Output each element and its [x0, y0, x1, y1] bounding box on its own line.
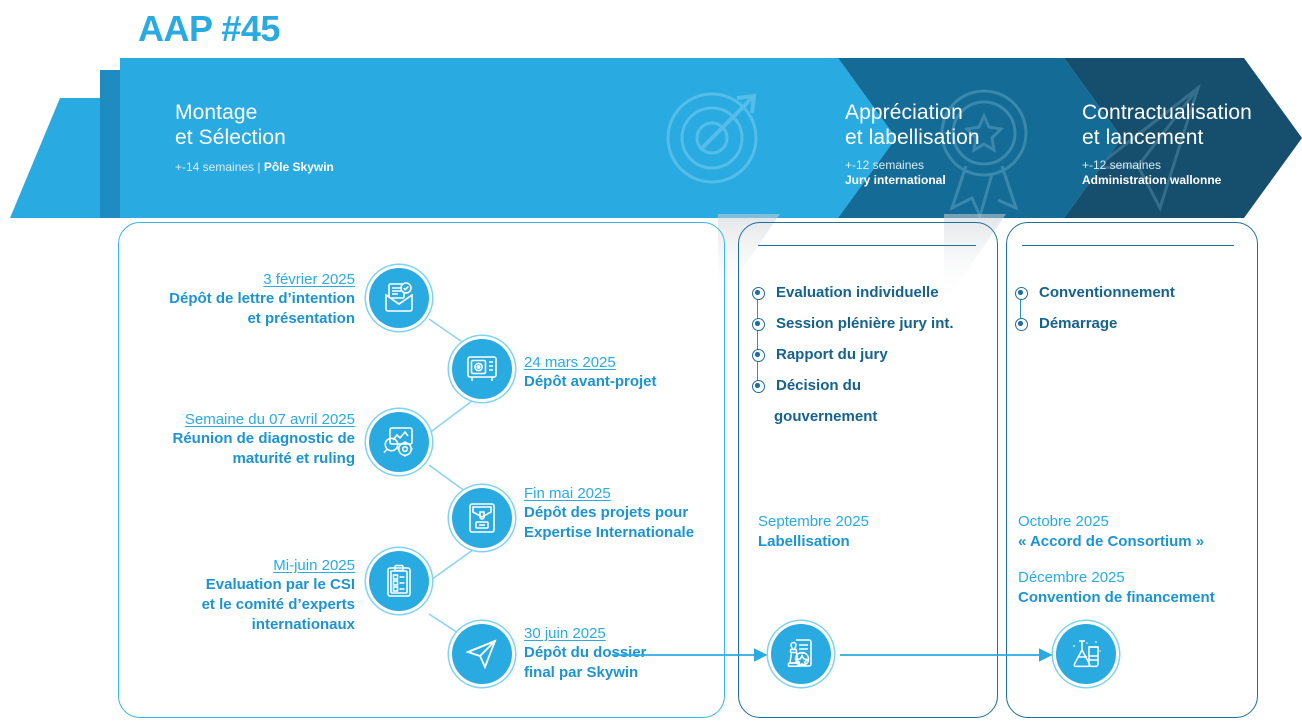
right-milestone-1: Octobre 2025 « Accord de Consortium » [1018, 512, 1204, 552]
segment-3-owner: Administration wallonne [1082, 173, 1221, 187]
step-6-date: 30 juin 2025 [524, 624, 794, 643]
step-1-desc-line2: et présentation [100, 309, 355, 329]
paper-plane-icon [452, 624, 512, 684]
step-4-date: Fin mai 2025 [524, 484, 794, 503]
mid-bullet-spine [757, 291, 758, 385]
mid-bullet-3: Rapport du jury [752, 345, 954, 364]
step-5-date: Mi-juin 2025 [95, 556, 355, 575]
right-milestone-2: Décembre 2025 Convention de financement [1018, 568, 1215, 608]
step-6-desc-line2: final par Skywin [524, 663, 794, 683]
step-1-desc-line1: Dépôt de lettre d’intention [100, 289, 355, 309]
bullet-dot-icon [752, 318, 765, 331]
segment-1-meta: +-14 semaines | Pôle Skywin [175, 160, 334, 175]
right-bullet-2: Démarrage [1015, 314, 1175, 333]
segment-1-title-line1: Montage [175, 100, 334, 125]
mid-bullet-3-label: Rapport du jury [776, 345, 888, 364]
right-milestone-2-date: Décembre 2025 [1018, 568, 1215, 588]
bullet-dot-icon [752, 380, 765, 393]
segment-1-owner: Pôle Skywin [264, 160, 334, 174]
infographic-root: AAP #45 [0, 0, 1302, 726]
right-milestone-1-date: Octobre 2025 [1018, 512, 1204, 532]
segment-3-meta: +-12 semaines Administration wallonne [1082, 158, 1252, 188]
mid-bullet-2-label: Session plénière jury int. [776, 314, 954, 333]
mid-bullet-4-label: Décision du [776, 376, 861, 395]
step-2-desc-line1: Dépôt avant-projet [524, 372, 784, 392]
ribbon-fold [100, 70, 120, 218]
segment-2-title-line1: Appréciation [845, 100, 980, 125]
banner-segment-2-text: Appréciation et labellisation +-12 semai… [845, 100, 980, 188]
step-3-date: Semaine du 07 avril 2025 [95, 410, 355, 429]
segment-2-title-line2: et labellisation [845, 125, 980, 150]
bullet-dot-icon [1015, 318, 1028, 331]
package-envelope-icon [452, 488, 512, 548]
right-bullet-1: Conventionnement [1015, 283, 1175, 302]
mid-column-bullets: Evaluation individuelle Session plénière… [752, 283, 954, 426]
right-milestone-2-label: Convention de financement [1018, 588, 1215, 608]
segment-1-separator: | [254, 160, 264, 174]
banner-segment-3-text: Contractualisation et lancement +-12 sem… [1082, 100, 1252, 188]
bullet-dot-icon [752, 349, 765, 362]
banner-segment-1-text: Montage et Sélection +-14 semaines | Pôl… [175, 100, 334, 175]
step-4-desc-line1: Dépôt des projets pour [524, 503, 794, 523]
mid-milestone-1: Septembre 2025 Labellisation [758, 512, 869, 552]
target-arrow-icon [668, 94, 756, 182]
phase-banner: Montage et Sélection +-14 semaines | Pôl… [0, 58, 1302, 218]
step-5-desc-line2: et le comité d’experts [95, 595, 355, 615]
lab-flasks-icon [1056, 624, 1116, 684]
mid-milestone-1-label: Labellisation [758, 532, 869, 552]
segment-1-title-line2: et Sélection [175, 125, 334, 150]
panel-mid-top-rule [758, 245, 976, 246]
panel-right-top-rule [1022, 245, 1234, 246]
mid-bullet-1: Evaluation individuelle [752, 283, 954, 302]
step-3-desc-line2: maturité et ruling [95, 449, 355, 469]
right-bullet-2-label: Démarrage [1039, 314, 1117, 333]
mid-milestone-1-date: Septembre 2025 [758, 512, 869, 532]
step-5-desc-line1: Evaluation par le CSI [95, 575, 355, 595]
right-column-bullets: Conventionnement Démarrage [1015, 283, 1175, 345]
step-1-date: 3 février 2025 [100, 270, 355, 289]
mid-bullet-1-label: Evaluation individuelle [776, 283, 939, 302]
segment-3-duration: +-12 semaines [1082, 158, 1252, 173]
step-4-desc-line2: Expertise Internationale [524, 523, 794, 543]
segment-2-owner: Jury international [845, 173, 946, 187]
bullet-dot-icon [752, 287, 765, 300]
step-2-date: 24 mars 2025 [524, 353, 784, 372]
segment-1-duration: +-14 semaines [175, 160, 254, 174]
segment-3-title-line2: et lancement [1082, 125, 1252, 150]
safe-gear-icon [452, 339, 512, 399]
chart-magnifier-gear-icon [369, 412, 429, 472]
clipboard-checklist-icon [369, 551, 429, 611]
mid-bullet-4-continuation: gouvernement [774, 407, 954, 426]
segment-2-meta: +-12 semaines Jury international [845, 158, 980, 188]
right-bullet-1-label: Conventionnement [1039, 283, 1175, 302]
mid-bullet-4: Décision du [752, 376, 954, 395]
step-5-desc-line3: internationaux [95, 615, 355, 635]
certificate-stamp-icon [771, 624, 831, 684]
segment-2-duration: +-12 semaines [845, 158, 980, 173]
step-3-desc-line1: Réunion de diagnostic de [95, 429, 355, 449]
segment-3-title-line1: Contractualisation [1082, 100, 1252, 125]
right-milestone-1-label: « Accord de Consortium » [1018, 532, 1204, 552]
page-title: AAP #45 [138, 8, 280, 50]
mid-bullet-2: Session plénière jury int. [752, 314, 954, 333]
step-6-desc-line1: Dépôt du dossier [524, 643, 794, 663]
envelope-document-check-icon [369, 268, 429, 328]
bullet-dot-icon [1015, 287, 1028, 300]
